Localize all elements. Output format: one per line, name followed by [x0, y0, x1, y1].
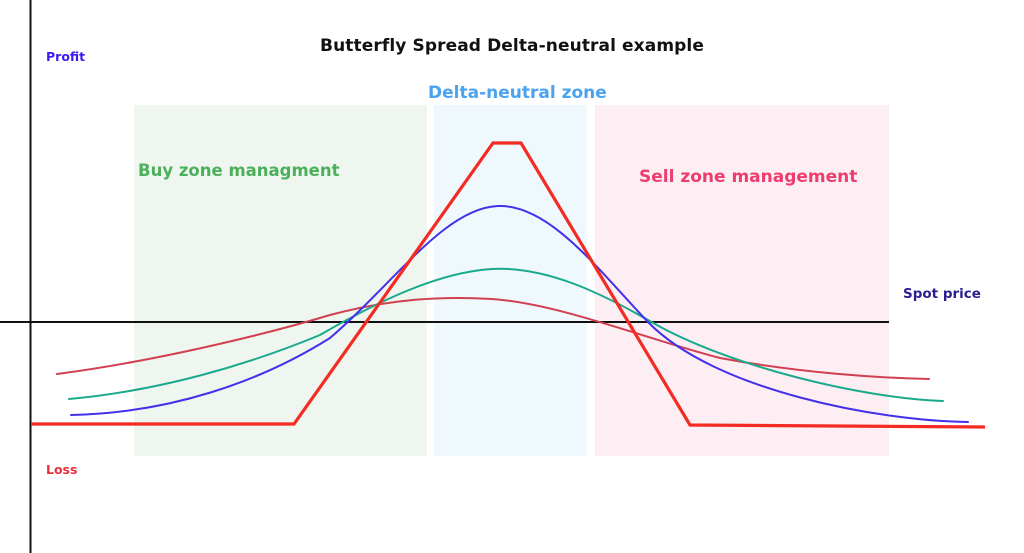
y-axis-profit-label: Profit	[46, 51, 85, 64]
buy-zone-label: Buy zone managment	[138, 163, 339, 180]
sell-zone-rect	[595, 105, 889, 456]
delta-neutral-zone-label: Delta-neutral zone	[428, 85, 607, 102]
chart-title: Butterfly Spread Delta-neutral example	[0, 38, 1024, 55]
sell-zone-label: Sell zone management	[639, 169, 857, 186]
y-axis-loss-label: Loss	[46, 464, 77, 477]
chart-container: Butterfly Spread Delta-neutral example P…	[0, 0, 1024, 553]
x-axis-spot-price-label: Spot price	[903, 288, 981, 302]
buy-zone-rect	[134, 105, 427, 456]
